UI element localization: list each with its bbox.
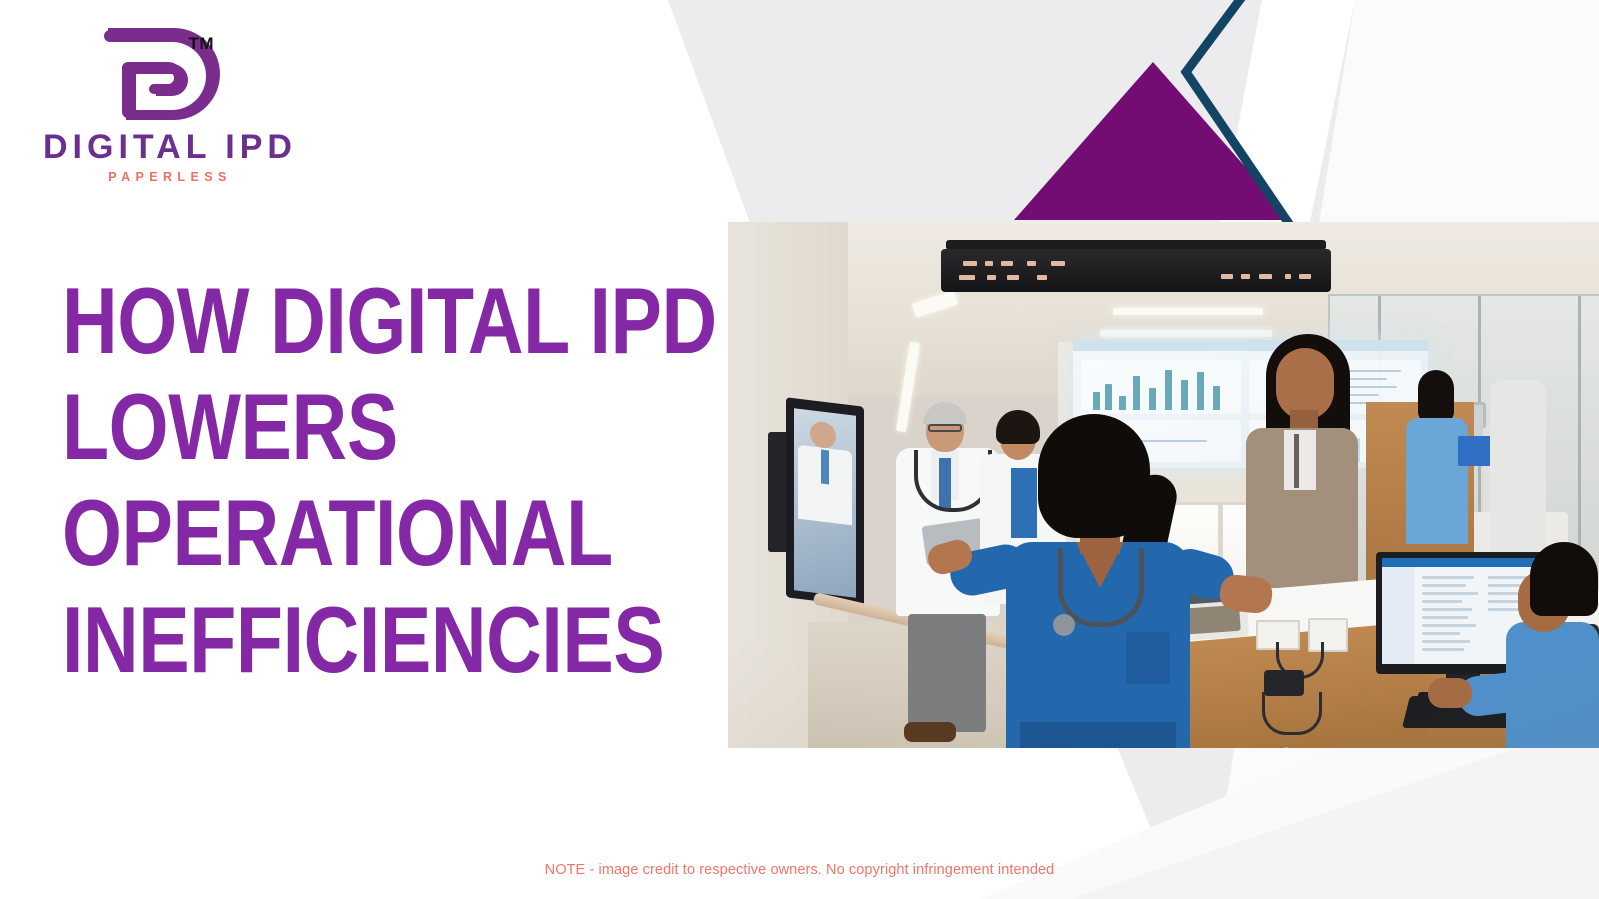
headline-line-4: INEFFICIENCIES: [62, 587, 587, 693]
emr-row: [1422, 576, 1474, 579]
overhead-display-fixture: [941, 249, 1331, 292]
doctor-trousers: [908, 614, 986, 732]
background-staff-figure: [1490, 380, 1546, 552]
emr-row: [1422, 616, 1468, 619]
logo-mark-icon: TM: [98, 24, 230, 126]
emr-row: [1422, 632, 1460, 635]
background-nurse-hair: [1418, 370, 1454, 422]
trademark-symbol: TM: [188, 34, 214, 54]
male-nurse-hair: [1530, 542, 1598, 616]
male-nurse-hand: [1428, 678, 1472, 708]
doctor-eyeglasses: [928, 424, 962, 432]
emr-row: [1422, 648, 1464, 651]
emr-row: [1422, 640, 1470, 643]
second-clinician-hair: [996, 410, 1040, 444]
logo-tagline: PAPERLESS: [40, 171, 300, 184]
administrator-lanyard: [1294, 434, 1299, 488]
image-credit-note: NOTE - image credit to respective owners…: [0, 862, 1599, 878]
emr-row: [1422, 592, 1478, 595]
nurse-stethoscope-bell: [1053, 614, 1075, 636]
nurse-right-hand: [1218, 573, 1273, 614]
telemedicine-remote-doctor-tie: [821, 450, 829, 485]
logo-wordmark: DIGITAL IPD: [40, 130, 300, 164]
emr-title-bar: [1382, 558, 1546, 567]
navy-chevron-decor: [1150, 0, 1360, 242]
emr-row: [1422, 608, 1472, 611]
nurse-stethoscope-tubing: [1058, 548, 1144, 627]
nurse-scrubs-trousers: [1020, 722, 1176, 748]
nurse-chest-pocket: [1126, 632, 1170, 684]
phone-cord: [1262, 692, 1322, 735]
emr-row: [1422, 584, 1466, 587]
emr-row: [1422, 600, 1462, 603]
headline-line-2: LOWERS: [62, 374, 587, 480]
headline-line-1: HOW DIGITAL IPD: [62, 268, 587, 374]
administrator-shirt: [1284, 430, 1316, 490]
poster-canvas: TM DIGITAL IPD PAPERLESS HOW DIGITAL IPD…: [0, 0, 1599, 899]
hero-photo: [728, 222, 1599, 748]
emr-row: [1422, 624, 1476, 627]
nurse-hair: [1038, 414, 1150, 538]
second-clinician-scrubs: [1011, 468, 1037, 538]
emr-sidebar-panel: [1382, 567, 1414, 664]
ceiling-light-1: [1113, 308, 1263, 315]
doctor-hair: [923, 402, 967, 424]
ceiling-light-2: [1100, 330, 1272, 337]
doctor-shoe: [904, 722, 956, 742]
background-nurse-folder: [1458, 436, 1492, 466]
headline-line-3: OPERATIONAL: [62, 480, 587, 586]
brand-logo[interactable]: TM DIGITAL IPD PAPERLESS: [40, 24, 300, 184]
page-title: HOW DIGITAL IPD LOWERS OPERATIONAL INEFF…: [62, 268, 587, 693]
